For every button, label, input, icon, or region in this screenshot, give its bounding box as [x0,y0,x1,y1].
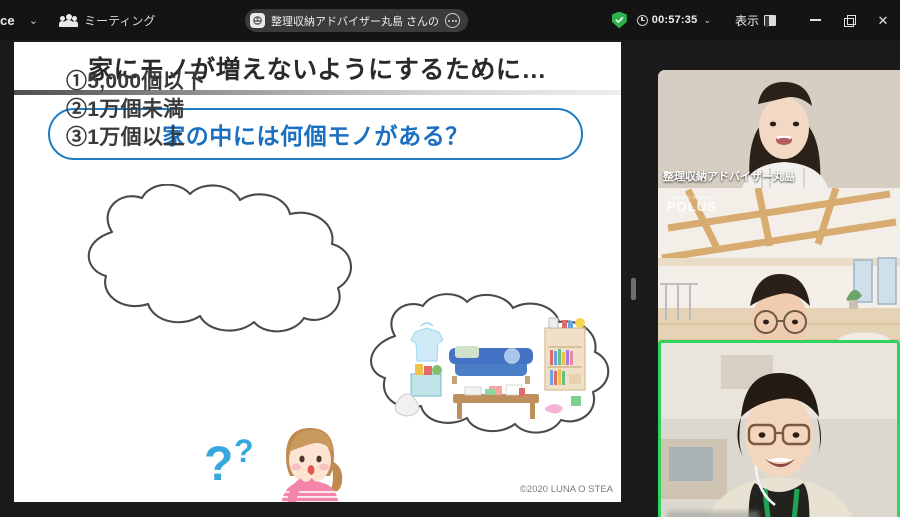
topbar-left-group: ce ⌄ ミーティング [0,0,155,40]
slide-copyright: ©2020 LUNA O STEA [520,484,613,495]
meeting-timer[interactable]: 00:57:35 ⌄ [637,14,711,26]
options-list: ①5,000個以下 ②1万個未満 ③1万個以上 [66,68,316,152]
minimize-icon [810,19,821,21]
svg-text:?: ? [204,438,233,491]
chevron-down-icon[interactable]: ⌄ [703,15,711,26]
timer-value: 00:57:35 [652,14,698,26]
topbar-right-group: 00:57:35 ⌄ 表示 ✕ [612,0,900,40]
svg-text:?: ? [234,433,254,469]
participant-name-label: 整理収納アドバイザー丸島 [663,168,795,184]
polus-watermark: HOUSING GROUP POLUS [667,195,717,214]
view-label: 表示 [735,12,759,29]
thinking-girl-illustration [264,420,352,502]
meeting-title-pill[interactable]: 整理収納アドバイザー丸島 さんの [245,9,468,32]
minimize-button[interactable] [798,0,832,40]
polus-watermark-main: POLUS [667,199,717,214]
meeting-nav-item[interactable]: ミーティング [60,12,155,29]
window-controls: ✕ [798,0,900,40]
shield-check-icon[interactable] [612,12,627,29]
list-item: ①5,000個以下 [66,68,316,96]
more-options-icon[interactable] [445,13,460,28]
maximize-button[interactable] [832,0,866,40]
list-item: ③1万個以上 [66,124,316,152]
restore-icon [844,15,854,25]
meeting-top-bar: ce ⌄ ミーティング 整理収納アドバイザー丸島 さんの [0,0,900,40]
chevron-down-icon[interactable]: ⌄ [29,14,38,27]
layout-icon [764,15,776,26]
thought-bubble-room [349,290,614,440]
video-tile-3-active-speaker[interactable] [658,340,900,517]
close-button[interactable]: ✕ [866,0,900,40]
list-item: ②1万個未満 [66,96,316,124]
video-participants-panel: 整理収納アドバイザー丸島 [658,70,900,470]
close-icon: ✕ [878,14,889,27]
panel-resize-handle[interactable] [631,278,636,300]
clock-icon [637,15,648,26]
video-tile-1[interactable]: 整理収納アドバイザー丸島 [658,70,900,188]
participant-name-label-blurred [667,511,759,517]
people-icon [60,14,77,27]
meeting-title-text: 整理収納アドバイザー丸島 さんの [271,13,439,29]
meeting-label: ミーティング [84,12,155,29]
shared-slide[interactable]: 家にモノが増えないようにするために… 家の中には何個モノがある？ ①5,000個… [14,42,621,502]
thought-bubble [54,184,384,336]
app-name-label: ce [0,13,15,28]
app-icon [250,13,265,28]
teams-meeting-window: ce ⌄ ミーティング 整理収納アドバイザー丸島 さんの [0,0,900,517]
view-button[interactable]: 表示 [735,12,776,29]
